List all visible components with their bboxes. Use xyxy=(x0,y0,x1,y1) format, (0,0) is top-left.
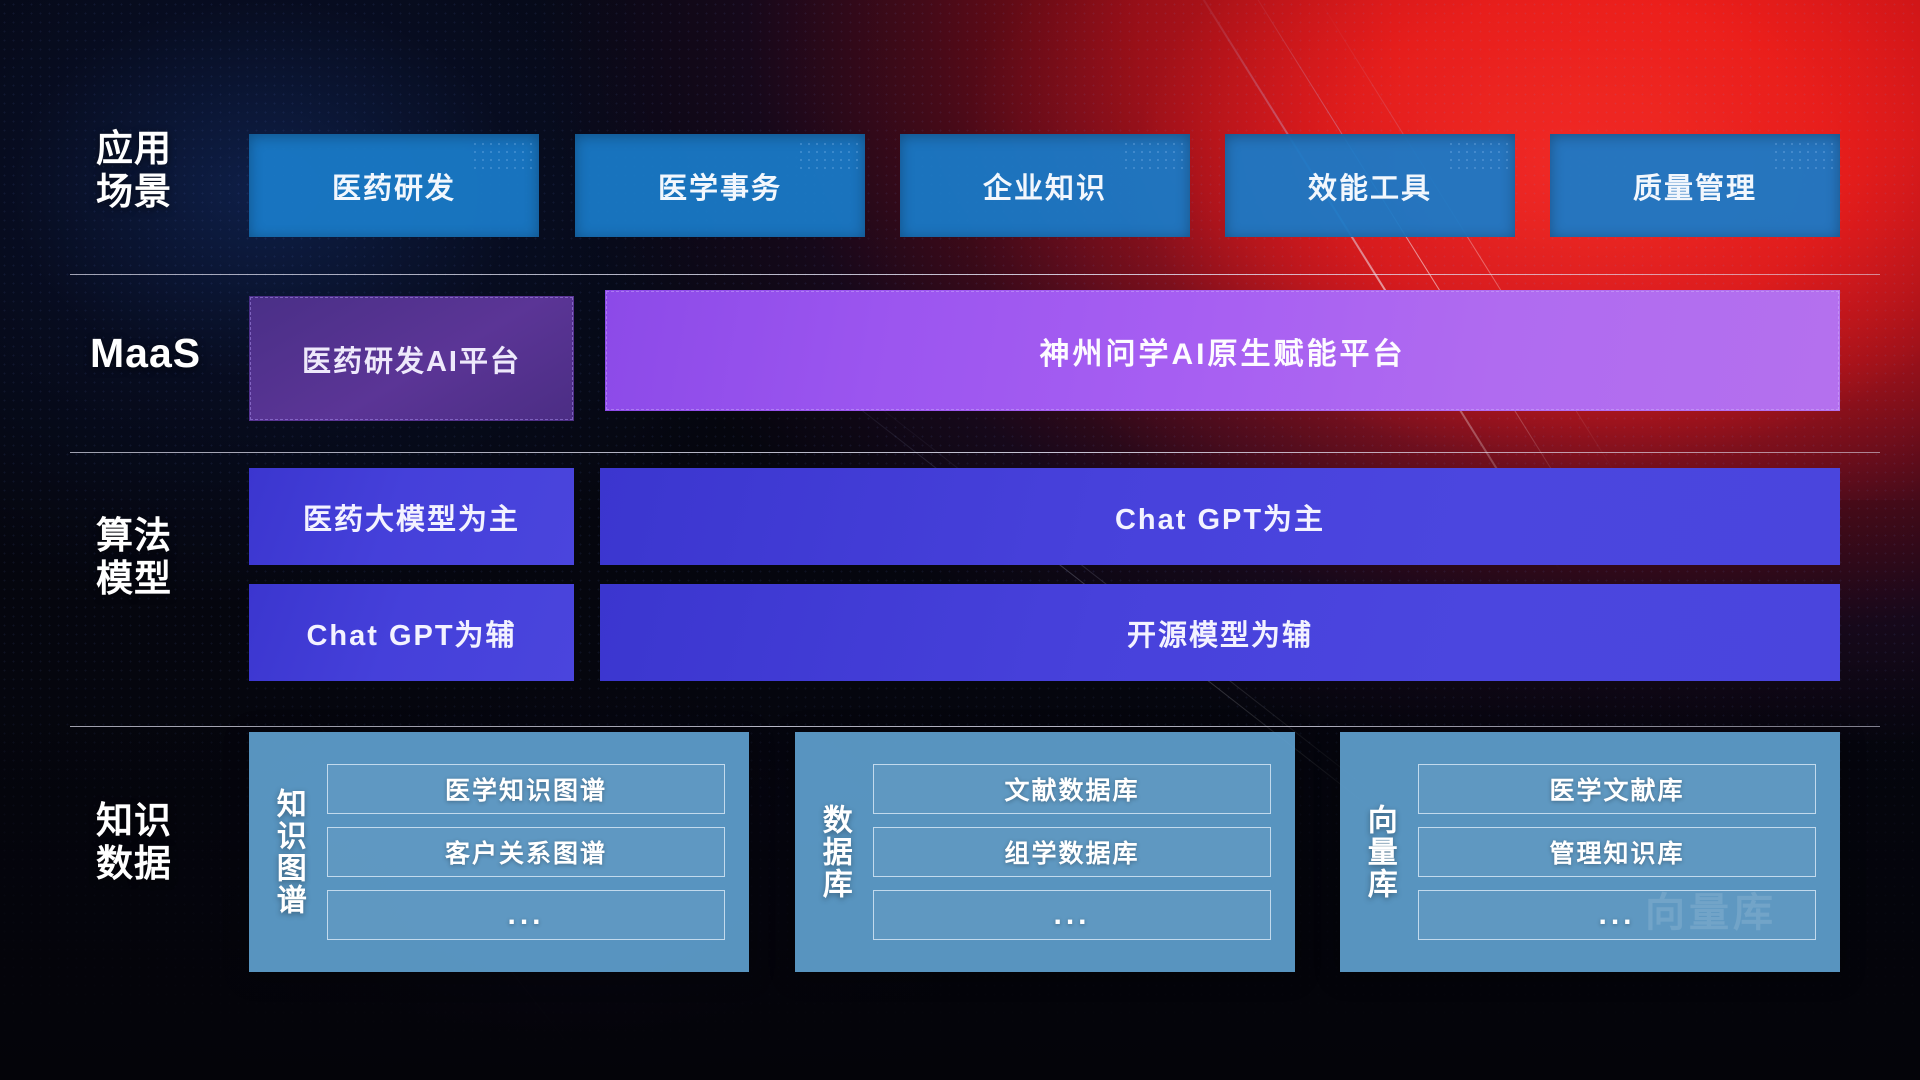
divider-maas-algorithm xyxy=(70,452,1880,453)
app-tile-label: 医学事务 xyxy=(658,165,782,207)
app-tile-medical-affairs[interactable]: 医学事务 xyxy=(575,134,865,237)
knowledge-group-title: 向量库 xyxy=(1340,732,1418,972)
algo-tile-label: 开源模型为辅 xyxy=(1127,612,1313,654)
app-tile-label: 质量管理 xyxy=(1633,165,1757,207)
row-label-maas-text: MaaS xyxy=(90,330,270,378)
knowledge-item-more[interactable]: ... xyxy=(873,890,1271,940)
app-tile-enterprise-knowledge[interactable]: 企业知识 xyxy=(900,134,1190,237)
row-label-maas: MaaS xyxy=(90,330,270,378)
algo-tile-label: Chat GPT为辅 xyxy=(306,612,516,654)
knowledge-item[interactable]: 客户关系图谱 xyxy=(327,827,725,877)
knowledge-item-more[interactable]: ... xyxy=(327,890,725,940)
knowledge-item[interactable]: 医学文献库 xyxy=(1418,764,1816,814)
maas-tile-shenzhou-wenxue-platform[interactable]: 神州问学AI原生赋能平台 xyxy=(605,290,1840,411)
tile-dot-texture xyxy=(1772,140,1834,170)
algo-tile-label: 医药大模型为主 xyxy=(303,496,520,538)
row-label-knowledge-line1: 知识 xyxy=(96,800,256,843)
row-label-algorithm-line1: 算法 xyxy=(96,515,256,558)
knowledge-group-knowledge-graph[interactable]: 知识图谱 医学知识图谱 客户关系图谱 ... xyxy=(249,732,749,972)
knowledge-group-title: 知识图谱 xyxy=(249,732,327,972)
knowledge-item-more[interactable]: ... xyxy=(1418,890,1816,940)
row-label-application: 应用 场景 xyxy=(96,128,246,214)
knowledge-group-items: 医学知识图谱 客户关系图谱 ... xyxy=(327,732,749,972)
algo-tile-label: Chat GPT为主 xyxy=(1115,496,1325,538)
row-label-knowledge: 知识 数据 xyxy=(96,800,256,886)
row-label-algorithm-line2: 模型 xyxy=(96,558,256,601)
row-label-knowledge-line2: 数据 xyxy=(96,843,256,886)
row-label-application-line2: 场景 xyxy=(96,171,246,214)
knowledge-group-database[interactable]: 数据库 文献数据库 组学数据库 ... xyxy=(795,732,1295,972)
row-label-algorithm: 算法 模型 xyxy=(96,515,256,601)
algo-tile-opensource-secondary[interactable]: 开源模型为辅 xyxy=(600,584,1840,681)
app-tile-efficiency-tools[interactable]: 效能工具 xyxy=(1225,134,1515,237)
knowledge-group-vector-store[interactable]: 向量库 医学文献库 管理知识库 ... xyxy=(1340,732,1840,972)
maas-tile-medicine-ai-platform[interactable]: 医药研发AI平台 xyxy=(249,296,574,421)
tile-dot-texture xyxy=(797,140,859,170)
app-tile-label: 医药研发 xyxy=(332,165,456,207)
architecture-diagram: 应用 场景 医药研发 医学事务 企业知识 效能工具 质量管理 MaaS 医药研发… xyxy=(0,0,1920,1080)
knowledge-group-title: 数据库 xyxy=(795,732,873,972)
divider-algorithm-knowledge xyxy=(70,726,1880,727)
knowledge-group-items: 文献数据库 组学数据库 ... xyxy=(873,732,1295,972)
maas-right-label: 神州问学AI原生赋能平台 xyxy=(1040,329,1406,373)
algo-tile-chatgpt-primary[interactable]: Chat GPT为主 xyxy=(600,468,1840,565)
tile-dot-texture xyxy=(1447,140,1509,170)
app-tile-quality-management[interactable]: 质量管理 xyxy=(1550,134,1840,237)
knowledge-item[interactable]: 文献数据库 xyxy=(873,764,1271,814)
knowledge-group-items: 医学文献库 管理知识库 ... xyxy=(1418,732,1840,972)
maas-left-label: 医药研发AI平台 xyxy=(302,338,521,380)
app-tile-label: 效能工具 xyxy=(1308,165,1432,207)
tile-dot-texture xyxy=(471,140,533,170)
knowledge-item[interactable]: 医学知识图谱 xyxy=(327,764,725,814)
algo-tile-medicine-llm-primary[interactable]: 医药大模型为主 xyxy=(249,468,574,565)
app-tile-label: 企业知识 xyxy=(983,165,1107,207)
knowledge-item[interactable]: 组学数据库 xyxy=(873,827,1271,877)
algo-tile-chatgpt-secondary[interactable]: Chat GPT为辅 xyxy=(249,584,574,681)
tile-dot-texture xyxy=(1122,140,1184,170)
row-label-application-line1: 应用 xyxy=(96,128,246,171)
knowledge-item[interactable]: 管理知识库 xyxy=(1418,827,1816,877)
divider-application-maas xyxy=(70,274,1880,275)
app-tile-medicine-rnd[interactable]: 医药研发 xyxy=(249,134,539,237)
